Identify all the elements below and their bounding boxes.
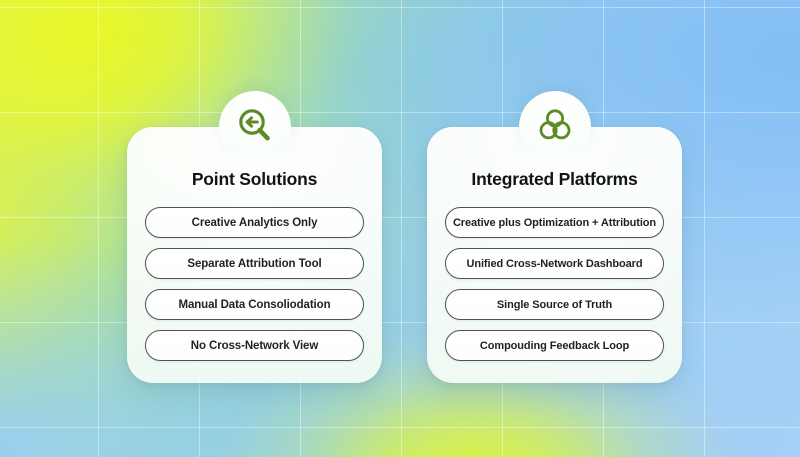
feature-pill-list: Creative plus Optimization + Attribution… — [445, 207, 664, 361]
card-title: Point Solutions — [127, 169, 382, 190]
feature-pill-label: Unified Cross-Network Dashboard — [467, 258, 643, 270]
card-icon-badge — [219, 91, 291, 163]
three-interlocking-rings-icon — [536, 106, 574, 144]
feature-pill-label: Manual Data Consoliodation — [178, 299, 330, 311]
magnifier-left-arrow-icon — [236, 106, 274, 144]
feature-pill[interactable]: Creative Analytics Only — [145, 207, 364, 238]
feature-pill[interactable]: Creative plus Optimization + Attribution — [445, 207, 664, 238]
feature-pill[interactable]: Separate Attribution Tool — [145, 248, 364, 279]
feature-pill-label: Compouding Feedback Loop — [480, 340, 629, 352]
card-group: Point Solutions Creative Analytics Only … — [0, 0, 800, 457]
feature-pill-label: Separate Attribution Tool — [187, 258, 321, 270]
feature-pill-label: No Cross-Network View — [191, 340, 318, 352]
feature-pill[interactable]: Manual Data Consoliodation — [145, 289, 364, 320]
card-icon-badge — [519, 91, 591, 163]
feature-pill[interactable]: Unified Cross-Network Dashboard — [445, 248, 664, 279]
card-integrated-platforms: Integrated Platforms Creative plus Optim… — [427, 127, 682, 383]
feature-pill[interactable]: Single Source of Truth — [445, 289, 664, 320]
feature-pill-label: Creative Analytics Only — [192, 217, 318, 229]
comparison-graphic: Point Solutions Creative Analytics Only … — [0, 0, 800, 457]
feature-pill[interactable]: Compouding Feedback Loop — [445, 330, 664, 361]
card-point-solutions: Point Solutions Creative Analytics Only … — [127, 127, 382, 383]
feature-pill[interactable]: No Cross-Network View — [145, 330, 364, 361]
feature-pill-label: Single Source of Truth — [497, 299, 612, 311]
feature-pill-list: Creative Analytics Only Separate Attribu… — [145, 207, 364, 361]
feature-pill-label: Creative plus Optimization + Attribution — [453, 217, 656, 229]
card-title: Integrated Platforms — [427, 169, 682, 190]
